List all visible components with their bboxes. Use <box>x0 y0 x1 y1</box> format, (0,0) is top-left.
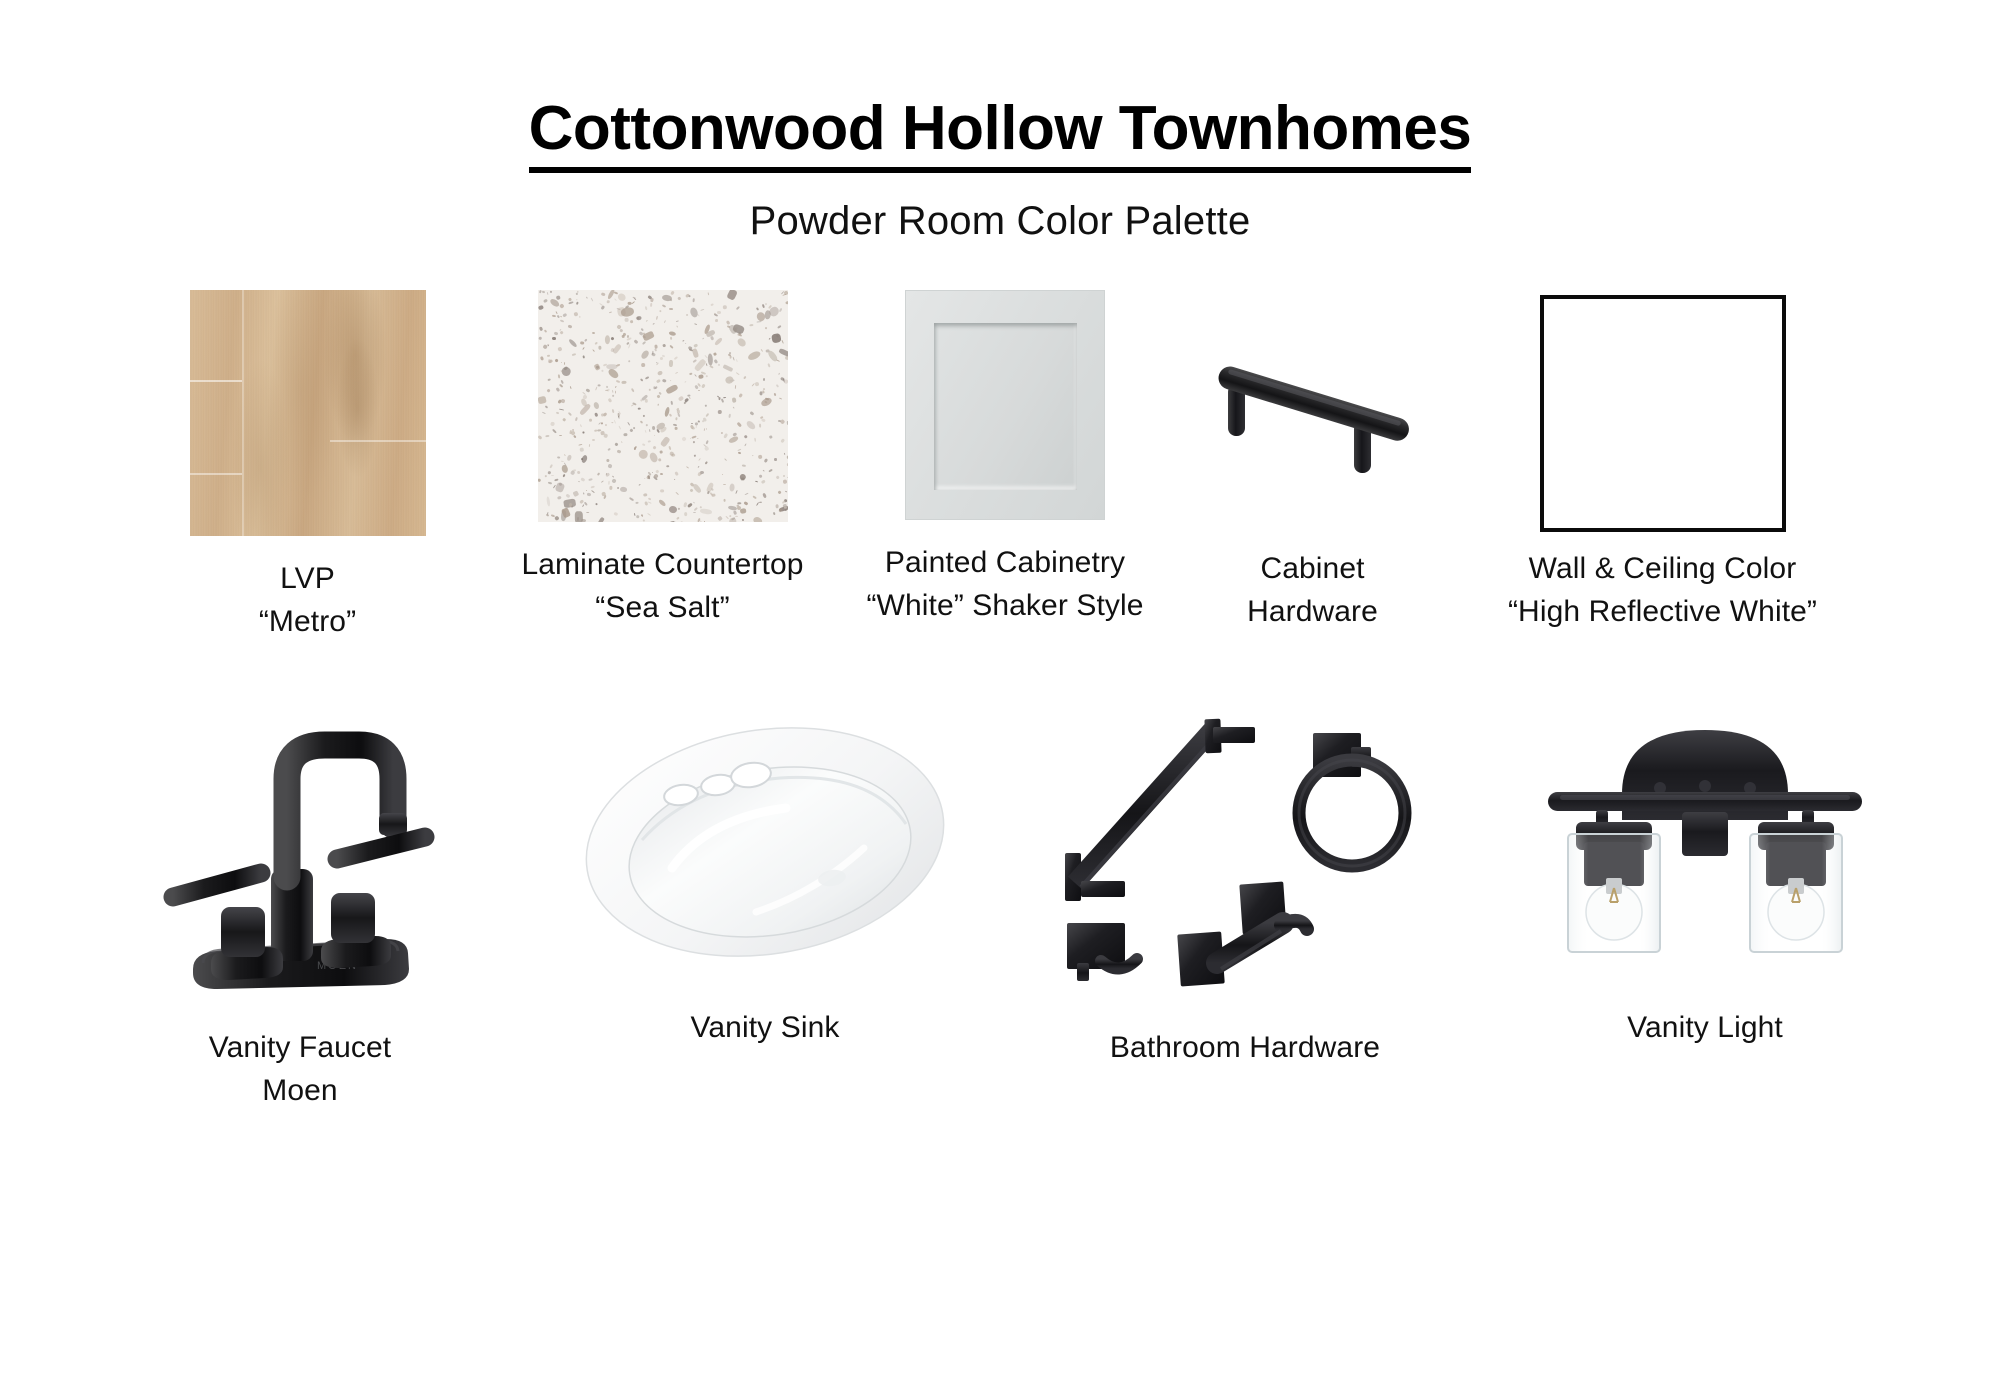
sink-icon <box>580 716 950 966</box>
terrazzo-fleck <box>541 412 545 415</box>
terrazzo-fleck <box>572 353 576 356</box>
terrazzo-fleck <box>737 448 741 450</box>
terrazzo-fleck <box>625 318 629 322</box>
terrazzo-fleck <box>552 429 557 434</box>
terrazzo-fleck <box>738 393 742 398</box>
robe-hook-icon <box>1067 923 1137 981</box>
terrazzo-fleck <box>628 344 631 349</box>
terrazzo-fleck <box>754 480 757 482</box>
terrazzo-fleck <box>550 291 553 294</box>
palette-item-bathroom-hardware: Bathroom Hardware <box>1005 701 1485 1070</box>
terrazzo-fleck <box>699 308 704 311</box>
vanity-sink-image <box>580 701 950 981</box>
terrazzo-fleck <box>721 432 723 434</box>
terrazzo-fleck <box>711 494 715 497</box>
wall-color-swatch-area <box>1540 290 1786 536</box>
terrazzo-fleck <box>711 336 715 341</box>
terrazzo-fleck <box>783 475 786 477</box>
terrazzo-fleck <box>554 478 559 481</box>
terrazzo-fleck <box>764 326 767 329</box>
caption-line: Painted Cabinetry <box>866 542 1143 585</box>
terrazzo-fleck <box>638 408 641 410</box>
terrazzo-fleck <box>779 308 782 312</box>
terrazzo-fleck <box>543 298 548 303</box>
terrazzo-fleck <box>739 473 747 481</box>
terrazzo-fleck <box>744 501 749 506</box>
terrazzo-fleck <box>697 314 700 317</box>
terrazzo-fleck <box>547 355 550 357</box>
terrazzo-fleck <box>630 320 634 323</box>
terrazzo-fleck <box>631 388 635 392</box>
terrazzo-fleck <box>697 390 699 391</box>
toilet-paper-holder-icon <box>1177 882 1307 987</box>
terrazzo-fleck <box>569 301 574 304</box>
terrazzo-fleck <box>743 376 746 379</box>
terrazzo-fleck <box>745 493 749 496</box>
terrazzo-fleck <box>744 443 746 446</box>
terrazzo-fleck <box>786 300 788 304</box>
terrazzo-fleck <box>733 407 735 409</box>
terrazzo-fleck <box>704 354 708 358</box>
terrazzo-fleck <box>617 450 621 454</box>
terrazzo-fleck <box>645 430 647 433</box>
terrazzo-fleck <box>612 475 614 477</box>
terrazzo-fleck <box>652 445 656 449</box>
terrazzo-fleck <box>781 439 786 444</box>
terrazzo-fleck <box>694 323 697 325</box>
plank-seam <box>190 380 242 382</box>
terrazzo-fleck <box>657 395 661 399</box>
terrazzo-fleck <box>552 314 557 317</box>
terrazzo-fleck <box>622 381 627 384</box>
terrazzo-fleck <box>737 502 741 504</box>
terrazzo-fleck <box>787 463 788 466</box>
terrazzo-fleck <box>705 440 709 445</box>
terrazzo-fleck <box>592 439 595 441</box>
terrazzo-fleck <box>546 389 550 393</box>
terrazzo-fleck <box>586 512 589 513</box>
terrazzo-fleck <box>579 403 591 416</box>
terrazzo-fleck <box>692 298 694 302</box>
terrazzo-fleck <box>769 337 771 339</box>
terrazzo-fleck <box>762 390 765 393</box>
terrazzo-fleck <box>654 348 657 352</box>
palette-item-wall-color: Wall & Ceiling Color “High Reflective Wh… <box>1448 290 1878 633</box>
terrazzo-fleck <box>559 331 563 335</box>
terrazzo-fleck <box>594 412 598 416</box>
terrazzo-fleck <box>763 378 765 381</box>
terrazzo-fleck <box>601 480 604 483</box>
terrazzo-fleck <box>595 342 598 345</box>
terrazzo-fleck <box>723 433 728 439</box>
terrazzo-fleck <box>732 397 736 402</box>
lvp-caption: LVP “Metro” <box>259 558 356 643</box>
terrazzo-fleck <box>705 404 707 407</box>
terrazzo-fleck <box>666 465 669 467</box>
terrazzo-fleck <box>669 345 673 349</box>
terrazzo-fleck <box>589 479 593 481</box>
terrazzo-fleck <box>586 490 587 491</box>
terrazzo-fleck <box>638 449 649 460</box>
terrazzo-fleck <box>723 499 726 502</box>
terrazzo-fleck <box>759 424 761 428</box>
terrazzo-fleck <box>689 373 693 376</box>
terrazzo-fleck <box>663 379 667 383</box>
terrazzo-fleck <box>671 291 676 296</box>
painted-cabinet-door-swatch <box>905 290 1105 520</box>
terrazzo-fleck <box>618 425 621 429</box>
vanity-light-icon <box>1540 716 1870 966</box>
terrazzo-fleck <box>662 344 665 347</box>
terrazzo-fleck <box>674 371 677 374</box>
terrazzo-fleck <box>710 365 714 368</box>
terrazzo-fleck <box>679 396 685 402</box>
terrazzo-fleck <box>592 332 595 335</box>
terrazzo-fleck <box>693 455 695 458</box>
terrazzo-fleck <box>646 513 650 516</box>
palette-item-cabinet-hardware: Cabinet Hardware <box>1178 290 1448 633</box>
terrazzo-fleck <box>728 435 739 444</box>
terrazzo-fleck <box>641 341 645 345</box>
caption-line: Moen <box>209 1070 392 1113</box>
lvp-wood-swatch <box>190 290 426 536</box>
terrazzo-fleck <box>604 434 608 439</box>
terrazzo-fleck <box>782 499 786 503</box>
laminate-countertop-swatch <box>538 290 788 522</box>
terrazzo-fleck <box>643 493 647 496</box>
terrazzo-fleck <box>697 472 701 476</box>
terrazzo-fleck <box>637 315 642 320</box>
palette-item-lvp: LVP “Metro” <box>123 290 493 643</box>
terrazzo-fleck <box>608 398 613 403</box>
terrazzo-fleck <box>705 428 706 430</box>
faucet-icon: MOEN <box>145 701 455 1001</box>
palette-item-cabinetry: Painted Cabinetry “White” Shaker Style <box>833 290 1178 627</box>
terrazzo-fleck <box>680 521 685 522</box>
terrazzo-fleck <box>544 330 548 334</box>
terrazzo-fleck <box>552 337 556 340</box>
terrazzo-fleck <box>583 493 585 495</box>
shaker-recessed-panel <box>934 323 1077 490</box>
terrazzo-fleck <box>670 380 671 381</box>
terrazzo-fleck <box>722 474 723 475</box>
terrazzo-fleck <box>548 379 551 381</box>
terrazzo-fleck <box>668 331 676 337</box>
terrazzo-fleck <box>669 505 678 513</box>
terrazzo-fleck <box>697 438 698 439</box>
terrazzo-fleck <box>763 458 767 463</box>
vanity-sink-caption: Vanity Sink <box>691 1007 840 1050</box>
terrazzo-fleck <box>694 507 698 511</box>
terrazzo-fleck <box>652 472 653 473</box>
terrazzo-fleck <box>687 503 692 508</box>
terrazzo-fleck <box>656 362 659 365</box>
terrazzo-fleck <box>705 412 709 417</box>
terrazzo-fleck <box>723 484 726 485</box>
terrazzo-fleck <box>735 516 738 517</box>
terrazzo-fleck <box>657 404 659 406</box>
terrazzo-fleck <box>674 472 679 477</box>
terrazzo-fleck <box>570 386 572 389</box>
terrazzo-fleck <box>561 399 565 404</box>
terrazzo-fleck <box>761 479 766 484</box>
caption-line: Laminate Countertop <box>521 544 803 587</box>
terrazzo-fleck <box>546 292 548 295</box>
terrazzo-fleck <box>755 382 760 387</box>
terrazzo-fleck <box>620 307 634 318</box>
terrazzo-fleck <box>616 292 627 303</box>
terrazzo-fleck <box>616 363 621 367</box>
terrazzo-fleck <box>735 385 737 389</box>
terrazzo-fleck <box>628 360 631 363</box>
terrazzo-fleck <box>558 456 561 458</box>
terrazzo-fleck <box>778 491 783 496</box>
terrazzo-fleck <box>579 443 583 445</box>
bathroom-hardware-image <box>1045 701 1445 1001</box>
terrazzo-fleck <box>639 420 642 423</box>
terrazzo-fleck <box>660 451 663 454</box>
terrazzo-fleck <box>556 495 561 500</box>
laminate-swatch-area <box>538 290 788 522</box>
vanity-faucet-image: MOEN <box>145 701 455 1001</box>
terrazzo-fleck <box>660 356 664 360</box>
terrazzo-fleck <box>729 483 735 491</box>
terrazzo-fleck <box>606 458 610 462</box>
bath-hardware-icon <box>1045 701 1445 1001</box>
terrazzo-fleck <box>558 346 563 351</box>
terrazzo-fleck <box>697 465 699 467</box>
terrazzo-fleck <box>702 337 704 339</box>
terrazzo-fleck <box>721 398 724 402</box>
terrazzo-fleck <box>608 464 612 469</box>
terrazzo-fleck <box>735 358 737 361</box>
board-header: Cottonwood Hollow Townhomes Powder Room … <box>0 0 2000 244</box>
wall-color-swatch <box>1540 295 1786 532</box>
terrazzo-fleck <box>674 356 678 360</box>
terrazzo-fleck <box>555 311 557 314</box>
plank-seam <box>330 440 426 442</box>
terrazzo-fleck <box>740 508 747 513</box>
terrazzo-fleck <box>675 491 679 495</box>
terrazzo-fleck <box>772 512 775 516</box>
terrazzo-fleck <box>764 302 767 305</box>
terrazzo-fleck <box>551 475 554 476</box>
terrazzo-fleck <box>689 488 693 492</box>
terrazzo-fleck <box>652 353 656 357</box>
terrazzo-fleck <box>760 418 765 422</box>
terrazzo-fleck <box>698 458 701 461</box>
terrazzo-fleck <box>554 359 558 363</box>
terrazzo-fleck <box>593 349 596 352</box>
terrazzo-fleck <box>722 397 725 398</box>
terrazzo-fleck <box>545 435 550 438</box>
terrazzo-fleck <box>644 478 646 480</box>
caption-line: Cabinet <box>1247 548 1378 591</box>
terrazzo-fleck <box>671 521 676 522</box>
terrazzo-fleck <box>645 398 648 402</box>
terrazzo-fleck <box>574 511 582 522</box>
terrazzo-fleck <box>756 308 759 312</box>
terrazzo-fleck <box>669 446 672 450</box>
terrazzo-fleck <box>627 422 630 426</box>
terrazzo-fleck <box>554 515 560 521</box>
terrazzo-fleck <box>628 497 633 501</box>
terrazzo-fleck <box>584 501 588 505</box>
terrazzo-fleck <box>604 424 607 427</box>
terrazzo-fleck <box>559 409 564 411</box>
terrazzo-fleck <box>657 370 663 375</box>
terrazzo-fleck <box>612 422 614 423</box>
terrazzo-fleck <box>779 398 782 400</box>
terrazzo-fleck <box>549 464 553 469</box>
terrazzo-fleck <box>676 417 678 420</box>
terrazzo-fleck <box>705 363 707 366</box>
terrazzo-fleck <box>686 466 689 469</box>
terrazzo-fleck <box>612 344 622 355</box>
terrazzo-fleck <box>562 418 566 422</box>
terrazzo-fleck <box>774 458 777 461</box>
terrazzo-fleck <box>642 444 645 447</box>
terrazzo-fleck <box>560 303 565 308</box>
terrazzo-fleck <box>560 319 565 323</box>
terrazzo-fleck <box>673 479 675 481</box>
cabinet-bar-pull-image <box>1208 336 1418 491</box>
terrazzo-fleck <box>641 363 645 367</box>
terrazzo-fleck <box>545 475 547 477</box>
terrazzo-fleck <box>671 453 675 456</box>
terrazzo-fleck <box>595 386 598 390</box>
terrazzo-fleck <box>713 352 716 355</box>
terrazzo-fleck <box>548 360 553 364</box>
terrazzo-fleck <box>538 396 547 404</box>
terrazzo-fleck <box>699 520 702 522</box>
terrazzo-fleck <box>742 519 744 521</box>
terrazzo-fleck <box>621 440 623 442</box>
terrazzo-fleck <box>693 359 697 362</box>
terrazzo-fleck <box>705 375 708 378</box>
terrazzo-fleck <box>580 448 584 452</box>
terrazzo-fleck <box>620 486 628 492</box>
terrazzo-fleck <box>597 384 600 386</box>
terrazzo-fleck <box>675 325 677 328</box>
bar-pull-icon <box>1208 336 1418 491</box>
cabinetry-caption: Painted Cabinetry “White” Shaker Style <box>866 542 1143 627</box>
terrazzo-fleck <box>734 511 738 515</box>
terrazzo-fleck <box>744 435 748 440</box>
terrazzo-fleck <box>701 383 705 387</box>
terrazzo-fleck <box>648 429 650 432</box>
terrazzo-fleck <box>615 386 617 388</box>
terrazzo-fleck <box>714 359 718 364</box>
terrazzo-fleck <box>611 479 617 485</box>
terrazzo-fleck <box>640 349 650 360</box>
terrazzo-fleck <box>582 347 585 350</box>
cabinet-door-swatch-area <box>905 290 1105 520</box>
terrazzo-fleck <box>715 319 718 323</box>
terrazzo-fleck <box>776 359 780 361</box>
terrazzo-fleck <box>659 310 662 313</box>
terrazzo-fleck <box>553 331 558 336</box>
terrazzo-fleck <box>539 327 543 331</box>
terrazzo-fleck <box>736 372 740 375</box>
palette-item-vanity-light: Vanity Light <box>1485 701 1925 1050</box>
terrazzo-fleck <box>601 292 606 296</box>
terrazzo-fleck <box>645 424 647 426</box>
terrazzo-fleck <box>587 492 591 495</box>
terrazzo-fleck <box>628 302 632 305</box>
terrazzo-fleck <box>614 391 615 394</box>
lvp-swatch-area <box>190 290 426 536</box>
terrazzo-fleck <box>650 303 652 307</box>
terrazzo-fleck <box>724 458 727 461</box>
terrazzo-fleck <box>763 470 765 472</box>
terrazzo-fleck <box>762 493 767 499</box>
laminate-caption: Laminate Countertop “Sea Salt” <box>521 544 803 629</box>
terrazzo-fleck <box>736 306 740 310</box>
terrazzo-fleck <box>685 343 687 345</box>
terrazzo-fleck <box>591 490 595 493</box>
terrazzo-fleck <box>783 480 787 485</box>
terrazzo-fleck <box>752 455 754 457</box>
terrazzo-fleck <box>781 419 786 424</box>
terrazzo-fleck <box>751 383 755 387</box>
terrazzo-fleck <box>786 454 788 460</box>
terrazzo-fleck <box>779 348 788 357</box>
terrazzo-fleck <box>758 454 763 459</box>
terrazzo-fleck <box>538 435 543 440</box>
terrazzo-fleck <box>784 453 786 455</box>
terrazzo-fleck <box>577 291 578 293</box>
terrazzo-fleck <box>576 302 579 305</box>
terrazzo-fleck <box>694 374 697 377</box>
terrazzo-fleck <box>646 320 648 322</box>
caption-line: “High Reflective White” <box>1508 591 1817 634</box>
terrazzo-fleck <box>710 303 714 306</box>
terrazzo-fleck <box>656 316 658 320</box>
terrazzo-fleck <box>648 440 652 443</box>
terrazzo-fleck <box>749 324 754 327</box>
terrazzo-fleck <box>605 335 610 344</box>
terrazzo-fleck <box>785 356 788 361</box>
terrazzo-fleck <box>579 424 582 428</box>
terrazzo-fleck <box>574 417 577 422</box>
terrazzo-fleck <box>738 452 742 455</box>
terrazzo-fleck <box>729 413 731 417</box>
terrazzo-fleck <box>638 484 640 486</box>
caption-line: LVP <box>259 558 356 601</box>
terrazzo-fleck <box>556 387 560 392</box>
terrazzo-fleck <box>564 454 566 456</box>
terrazzo-fleck <box>756 502 759 506</box>
terrazzo-fleck <box>616 380 620 383</box>
terrazzo-fleck <box>678 507 681 510</box>
terrazzo-fleck <box>660 489 664 493</box>
terrazzo-fleck <box>745 419 756 430</box>
terrazzo-fleck <box>566 494 570 498</box>
terrazzo-fleck <box>567 455 573 462</box>
terrazzo-fleck <box>778 373 780 375</box>
terrazzo-fleck <box>607 368 620 380</box>
terrazzo-fleck <box>607 300 610 303</box>
terrazzo-fleck <box>747 350 761 362</box>
terrazzo-fleck <box>727 353 730 356</box>
terrazzo-fleck <box>676 517 680 520</box>
terrazzo-fleck <box>561 362 562 364</box>
terrazzo-fleck <box>754 438 756 442</box>
terrazzo-fleck <box>561 464 568 473</box>
terrazzo-fleck <box>614 298 617 301</box>
caption-line: Vanity Faucet <box>209 1027 392 1070</box>
